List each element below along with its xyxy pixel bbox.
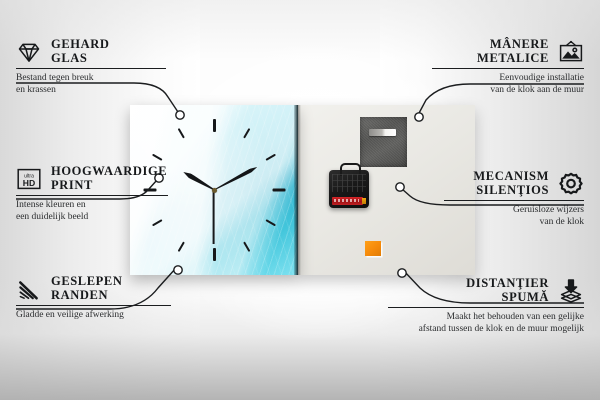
callout-title: GEHARD GLAS [51,38,109,65]
clock-tick [178,241,185,252]
callout-subtitle: Intense kleuren en een duidelijk beeld [16,200,168,223]
framed-picture-hanger-icon [558,39,584,65]
callout-rule [388,307,584,308]
beveled-edges-icon [16,276,42,302]
callout-title: MÂNERE METALICE [477,38,549,65]
callout-header: GEHARD GLAS [16,38,166,65]
callout-rule [16,195,168,196]
callout-header: MECANISM SILENŢIOS [444,170,584,197]
callout-rule [432,68,584,69]
callout-header: GESLEPEN RANDEN [16,275,171,302]
clock-tick [273,189,286,192]
callout-title: GESLEPEN RANDEN [51,275,123,302]
svg-text:HD: HD [23,177,35,187]
battery-terminal [362,198,366,204]
hour-hand [182,170,216,192]
callout-header: MÂNERE METALICE [432,38,584,65]
callout-rule [16,68,166,69]
second-hand [213,190,215,244]
diamond-icon [16,39,42,65]
callout-manere-metalice[interactable]: MÂNERE METALICE Eenvoudige installatie v… [432,38,584,96]
back-panel-edge [298,105,301,275]
callout-subtitle: Geruisloze wijzers van de klok [444,205,584,228]
callout-distantier-spuma[interactable]: DISTANŢIER SPUMĂ Maakt het behouden van … [388,277,584,335]
callout-gehard-glas[interactable]: GEHARD GLAS Bestand tegen breuk en krass… [16,38,166,96]
callout-geslepen-randen[interactable]: GESLEPEN RANDEN Gladde en veilige afwerk… [16,275,171,322]
clock-mechanism [329,170,369,208]
hanger-keyhole-slot [369,129,396,136]
clock-tick [152,154,163,161]
callout-title: DISTANŢIER SPUMĂ [466,277,549,304]
product-image [130,105,475,275]
callout-title: HOOGWAARDIGE PRINT [51,165,167,192]
callout-rule [444,200,584,201]
callout-subtitle: Bestand tegen breuk en krassen [16,73,166,96]
battery-label [334,199,359,202]
minute-hand [213,165,258,192]
clock-center-pin [212,188,217,193]
callout-subtitle: Gladde en veilige afwerking [16,310,171,322]
mechanism-vents [332,174,366,192]
infographic-canvas: GEHARD GLAS Bestand tegen breuk en krass… [0,0,600,400]
clock-tick [243,128,250,139]
battery [332,197,363,205]
callout-subtitle: Eenvoudige installatie van de klok aan d… [432,73,584,96]
callout-hoogwaardige-print[interactable]: ultra HD HOOGWAARDIGE PRINT Intense kleu… [16,165,168,223]
clock-tick [265,154,276,161]
clock-tick [178,128,185,139]
gear-icon [558,171,584,197]
callout-header: ultra HD HOOGWAARDIGE PRINT [16,165,168,192]
foam-spacer [365,241,381,256]
clock-tick [265,219,276,226]
clock-tick [243,241,250,252]
callout-subtitle: Maakt het behouden van een gelijke afsta… [388,312,584,335]
hanger-plate-texture [360,117,407,167]
front-panel-edge [294,105,298,275]
metal-hanger-plate [360,117,407,167]
callout-title: MECANISM SILENŢIOS [473,170,549,197]
arrow-down-stack-icon [558,278,584,304]
callout-mecanism-silentios[interactable]: MECANISM SILENŢIOS Geruisloze wijzers va… [444,170,584,228]
clock-tick [213,119,216,132]
callout-header: DISTANŢIER SPUMĂ [388,277,584,304]
clock-tick [213,248,216,261]
ultra-hd-icon: ultra HD [16,166,42,192]
callout-rule [16,305,171,306]
